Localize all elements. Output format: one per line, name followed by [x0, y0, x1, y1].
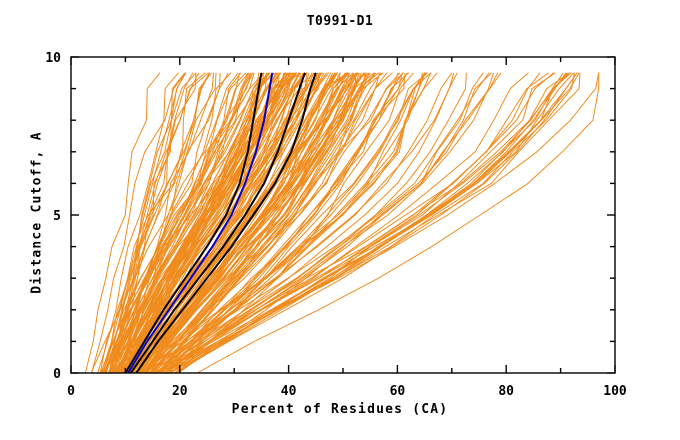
x-tick-label: 40 — [281, 384, 297, 399]
plot-canvas: 0204060801000510 — [0, 0, 680, 440]
chart-container: T0991-D1 0204060801000510 Distance Cutof… — [0, 0, 680, 440]
data-curves-layer — [85, 73, 598, 373]
x-tick-label: 100 — [603, 384, 627, 399]
y-tick-label: 0 — [53, 367, 61, 382]
x-tick-label: 80 — [498, 384, 514, 399]
x-tick-label: 0 — [67, 384, 75, 399]
y-tick-label: 5 — [53, 209, 61, 224]
x-axis-label: Percent of Residues (CA) — [0, 402, 680, 417]
x-tick-label: 60 — [390, 384, 406, 399]
x-tick-label: 20 — [172, 384, 188, 399]
y-tick-label: 10 — [45, 51, 61, 66]
y-axis-label: Distance Cutoff, A — [30, 83, 45, 343]
